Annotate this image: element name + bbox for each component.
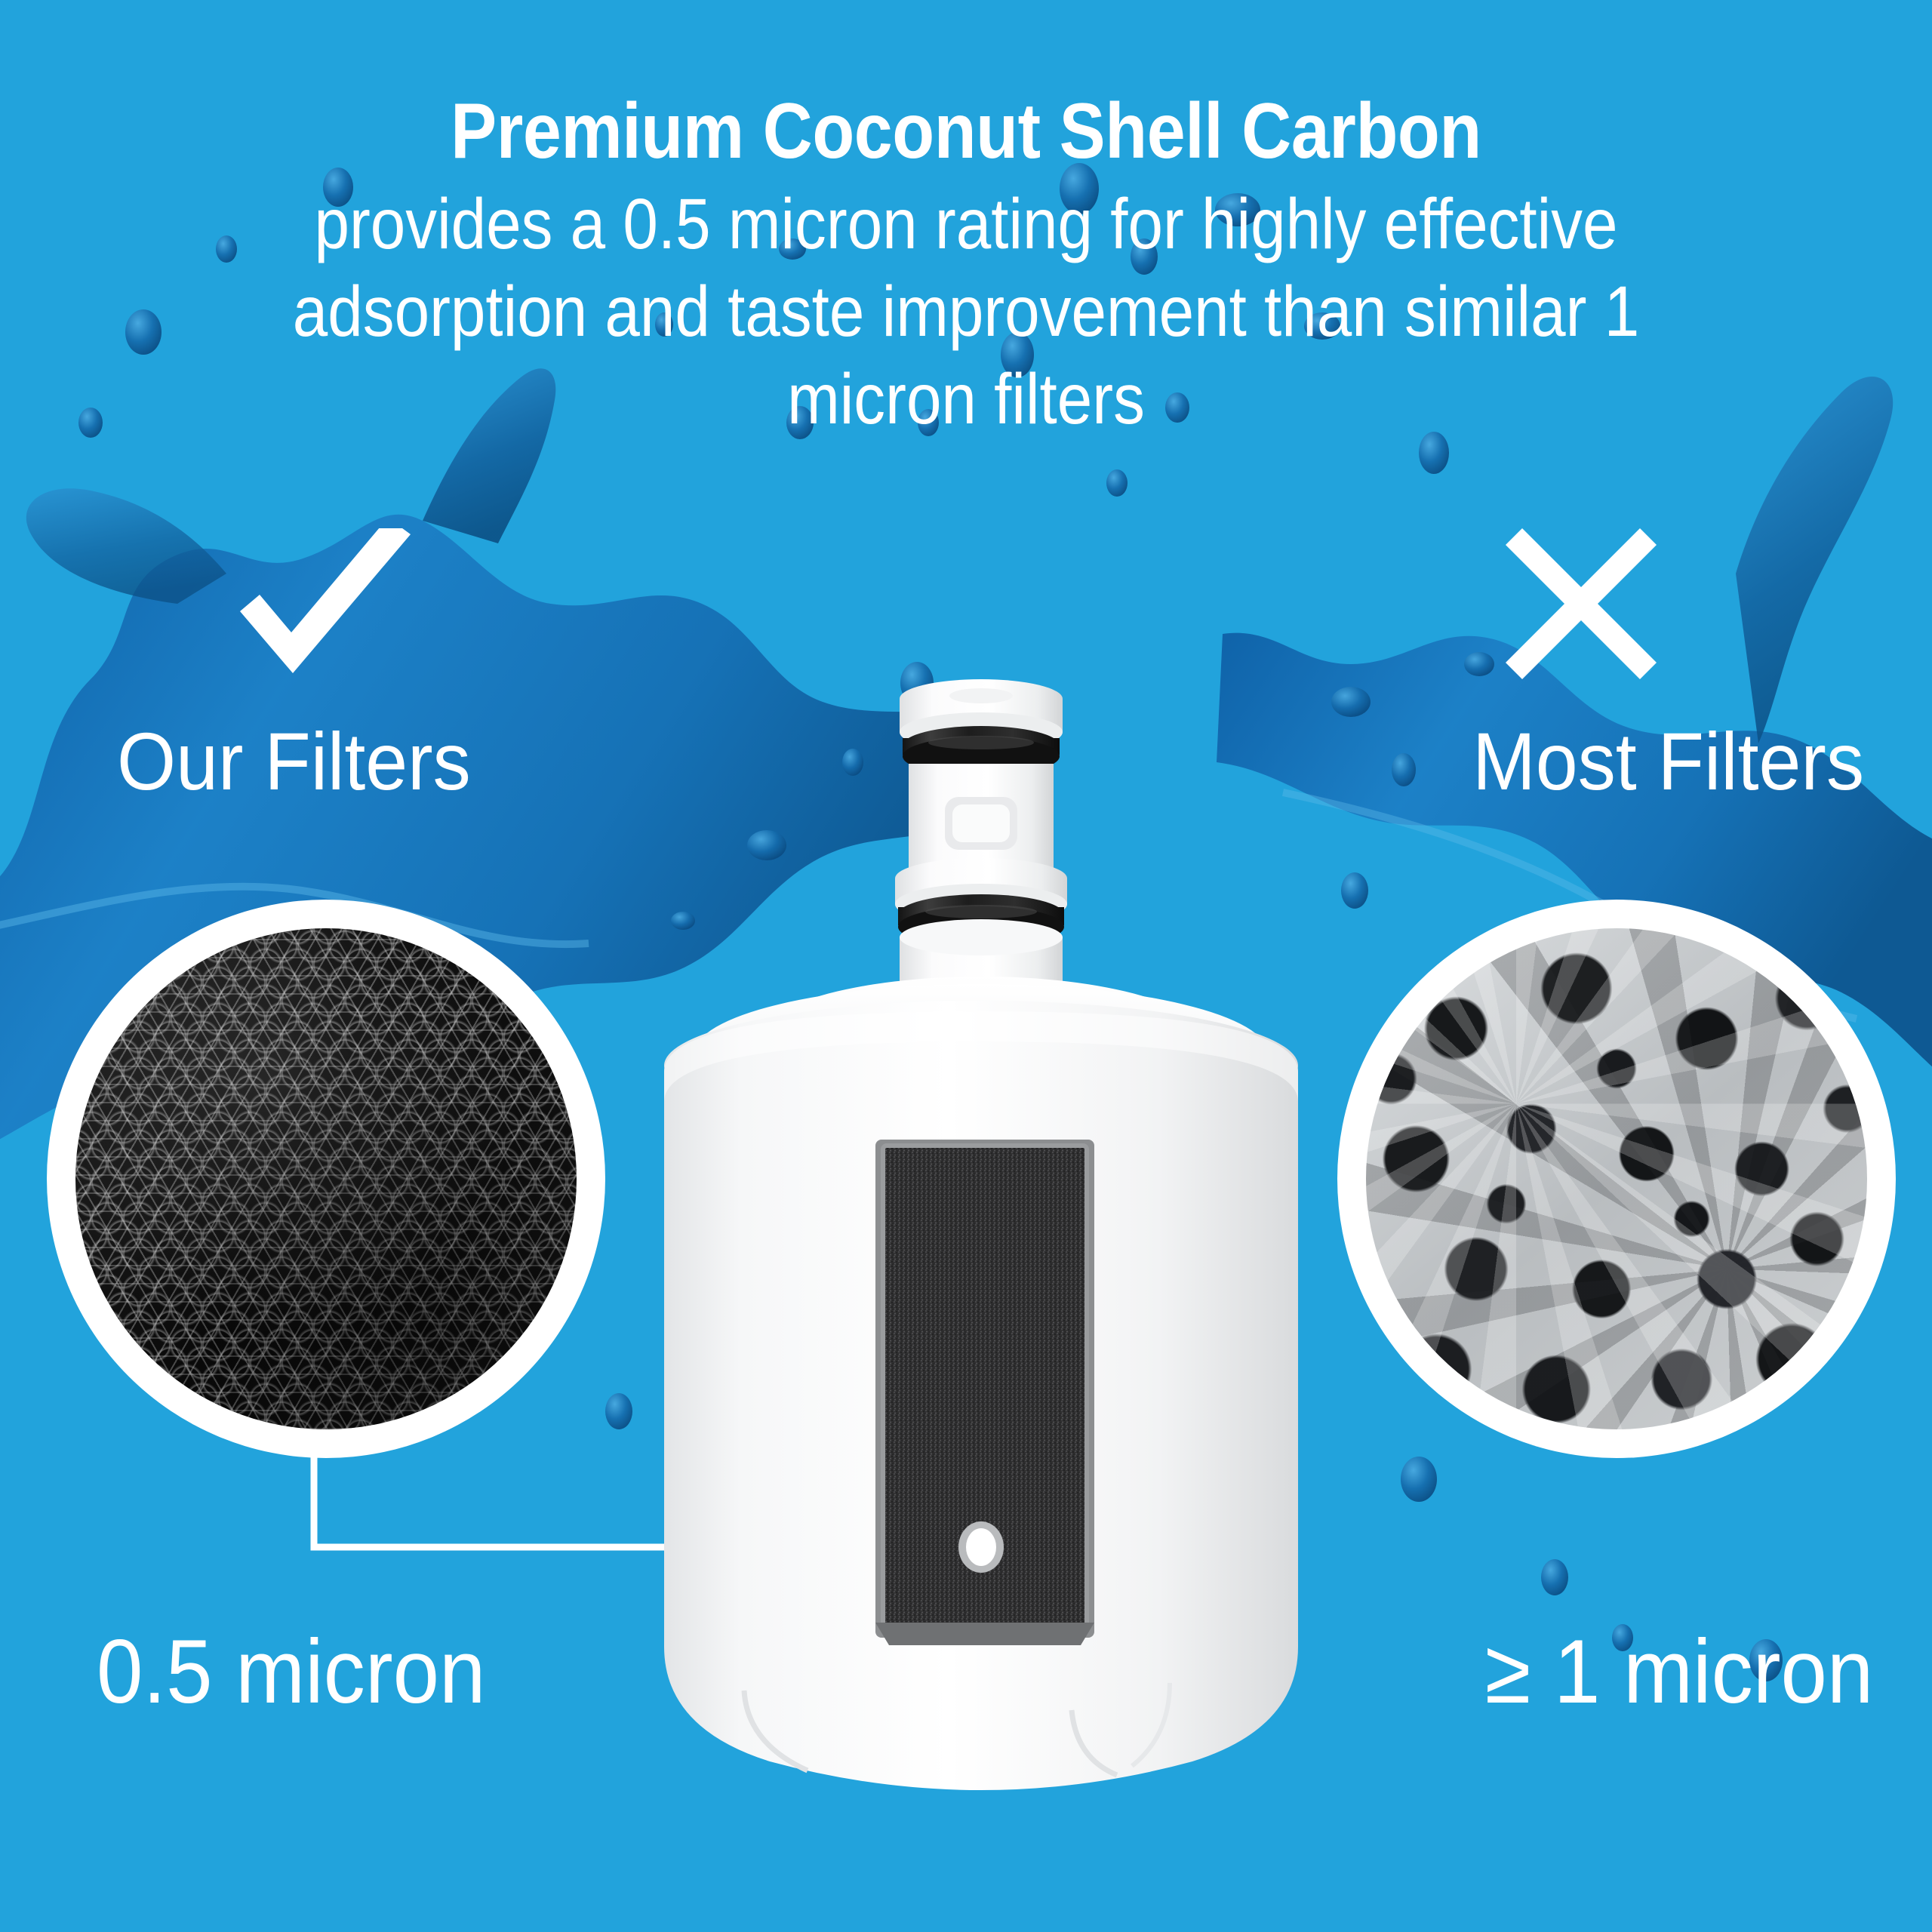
- carbon-panel: [875, 1140, 1094, 1645]
- our-filter-texture-inset: [47, 900, 605, 1458]
- water-filter-product: [649, 649, 1313, 1811]
- honeycomb-carbon-texture: [75, 928, 577, 1429]
- product-infographic: Premium Coconut Shell Carbon provides a …: [0, 0, 1932, 1932]
